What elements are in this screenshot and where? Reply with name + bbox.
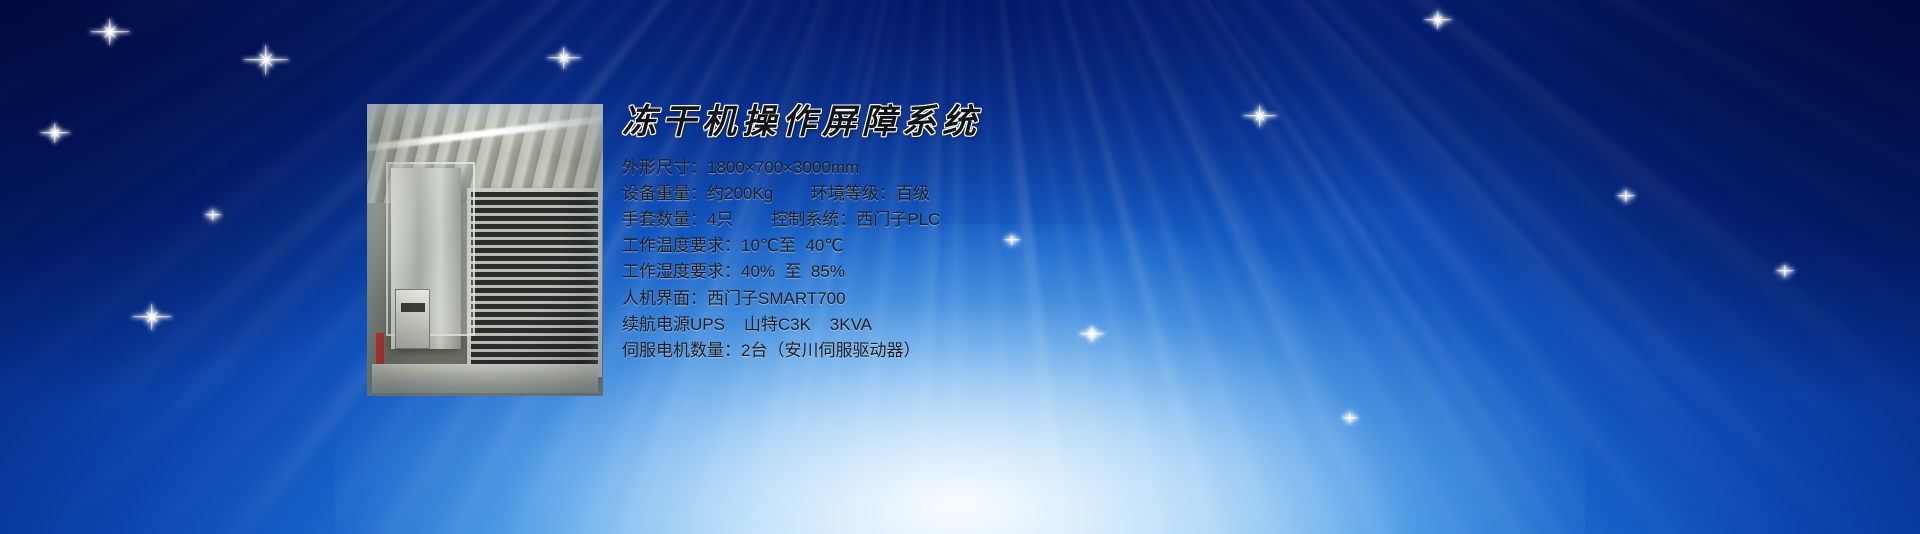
spec-item-humidity: 工作湿度要求：40% 至 85% <box>622 259 1522 285</box>
spec-item-temperature: 工作温度要求：10℃至 40℃ <box>622 233 1522 259</box>
spec-item-hmi: 人机界面：西门子SMART700 <box>622 286 1522 312</box>
photo-soft-edge <box>367 104 603 396</box>
spec-item-servo-motors: 伺服电机数量：2台（安川伺服驱动器） <box>622 338 1522 364</box>
text-block: 冻干机操作屏障系统 外形尺寸：1800×700×3000mm 设备重量：约200… <box>622 104 1522 364</box>
spec-item-gloves-plc: 手套数量：4只 控制系统：西门子PLC <box>622 207 1522 233</box>
spec-item-weight-grade: 设备重量：约200Kg 环境等级：百级 <box>622 181 1522 207</box>
banner-stage: 冻干机操作屏障系统 外形尺寸：1800×700×3000mm 设备重量：约200… <box>0 0 1920 534</box>
page-title: 冻干机操作屏障系统 <box>622 104 1522 141</box>
spec-list: 外形尺寸：1800×700×3000mm 设备重量：约200Kg 环境等级：百级… <box>622 155 1522 364</box>
product-photo <box>367 104 603 396</box>
spec-item-ups: 续航电源UPS 山特C3K 3KVA <box>622 312 1522 338</box>
spec-item-dimensions: 外形尺寸：1800×700×3000mm <box>622 155 1522 181</box>
